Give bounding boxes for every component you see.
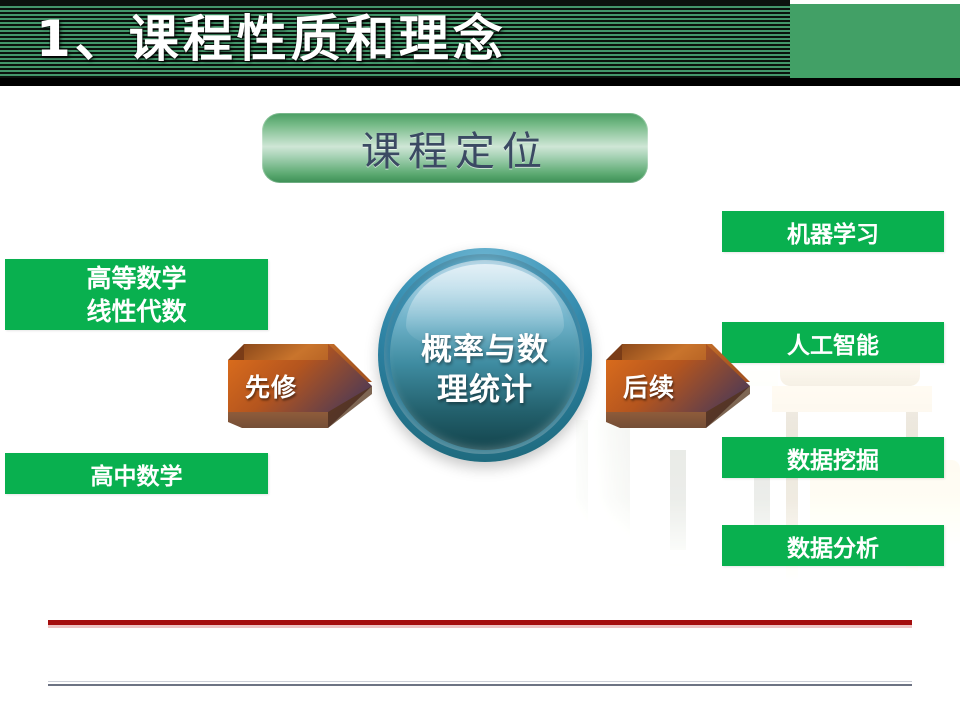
center-node-label-line1: 概率与数 <box>378 330 592 370</box>
slide-canvas: 1、课程性质和理念 课程定位 高等数学 线性代数 高中数学 机器学习 人工智能 … <box>0 0 960 720</box>
prerequisite-box-2-label: 高中数学 <box>91 457 183 491</box>
prerequisite-box-2[interactable]: 高中数学 <box>5 453 268 494</box>
section-banner-label: 课程定位 <box>262 113 648 183</box>
footer-gray-rule <box>48 684 912 686</box>
center-node-label: 概率与数 理统计 <box>378 330 592 410</box>
section-banner: 课程定位 <box>262 113 648 183</box>
followup-box-4-label: 数据分析 <box>787 529 879 563</box>
followup-box-3-label: 数据挖掘 <box>787 441 879 475</box>
page-title: 1、课程性质和理念 <box>36 8 507 74</box>
followup-box-3[interactable]: 数据挖掘 <box>722 437 944 478</box>
footer-gray-rule-highlight <box>48 681 912 682</box>
arrow-followup: 后续 <box>600 338 752 432</box>
followup-box-1-label: 机器学习 <box>787 215 879 249</box>
followup-box-1[interactable]: 机器学习 <box>722 211 944 252</box>
footer-red-rule-glow <box>48 625 912 628</box>
center-node-sphere[interactable]: 概率与数 理统计 <box>378 248 592 462</box>
followup-box-4[interactable]: 数据分析 <box>722 525 944 566</box>
header-solid-green-block <box>790 4 960 78</box>
center-node-label-line2: 理统计 <box>378 370 592 410</box>
prerequisite-box-1[interactable]: 高等数学 线性代数 <box>5 259 268 330</box>
followup-box-2[interactable]: 人工智能 <box>722 322 944 363</box>
arrow-followup-label: 后续 <box>610 368 688 404</box>
header-bottom-bar <box>0 78 960 86</box>
followup-box-2-label: 人工智能 <box>787 326 879 360</box>
arrow-prerequisite: 先修 <box>222 338 374 432</box>
prerequisite-box-1-line1: 高等数学 <box>86 262 186 295</box>
slide-header: 1、课程性质和理念 <box>0 0 960 86</box>
prerequisite-box-1-line2: 线性代数 <box>86 295 186 328</box>
arrow-prerequisite-label: 先修 <box>232 368 310 404</box>
